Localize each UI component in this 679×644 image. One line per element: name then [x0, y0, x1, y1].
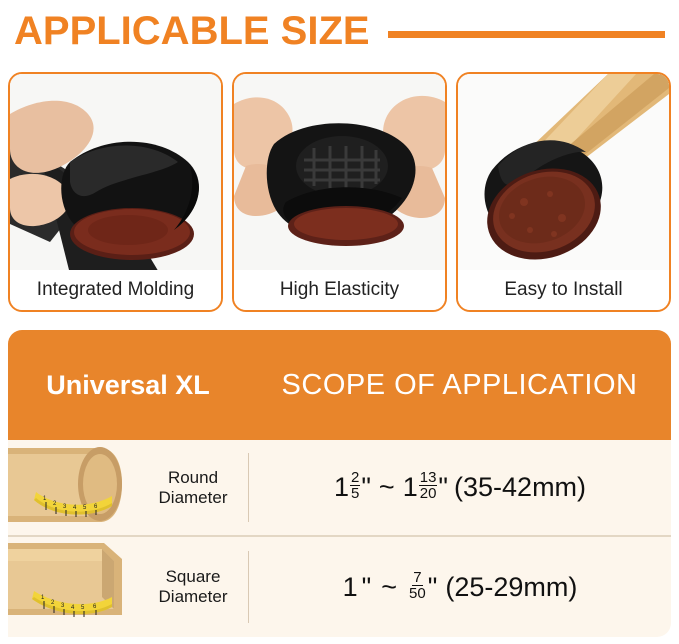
header-rule	[388, 31, 665, 38]
fraction-numerator: 7	[412, 570, 422, 586]
value-fraction-1: 2 5	[350, 470, 360, 501]
value-fraction-2: 7 50	[408, 570, 427, 601]
value-unit-2: "	[438, 472, 448, 503]
fraction-denominator: 20	[419, 486, 438, 501]
spec-row-label: Square Diameter	[138, 567, 248, 606]
value-prefix: 1	[334, 472, 349, 503]
feature-card: High Elasticity	[232, 72, 447, 312]
feature-card-caption: High Elasticity	[234, 270, 445, 310]
value-unit-1: "	[358, 572, 372, 603]
feature-card-caption: Integrated Molding	[10, 270, 221, 310]
scope-title-label: SCOPE OF APPLICATION	[248, 369, 671, 402]
spec-table-header: Universal XL SCOPE OF APPLICATION	[8, 330, 671, 440]
fraction-numerator: 13	[419, 470, 438, 486]
value-unit-1: "	[361, 472, 371, 503]
value-mid: 1	[403, 472, 418, 503]
value-fraction-2: 13 20	[419, 470, 438, 501]
value-separator: ~	[371, 572, 407, 603]
fraction-denominator: 50	[408, 586, 427, 601]
value-separator: ~	[371, 472, 403, 503]
spec-row-round: 123 456 Round Diameter 1 2 5 " ~ 1 13 20…	[8, 440, 671, 535]
feature-card-caption: Easy to Install	[458, 270, 669, 310]
feature-card: Integrated Molding	[8, 72, 223, 312]
value-metric: (25-29mm)	[437, 572, 577, 603]
round-leg-photo: 123 456	[8, 440, 138, 535]
spec-label-line1: Square	[138, 567, 248, 587]
square-leg-photo: 123 456	[8, 537, 138, 637]
spec-row-value: 1 2 5 " ~ 1 13 20 " (35-42mm)	[249, 472, 671, 503]
size-name-label: Universal XL	[8, 370, 248, 401]
product-photo-high-elasticity	[234, 74, 445, 274]
value-prefix: 1	[343, 572, 358, 603]
spec-row-label: Round Diameter	[138, 468, 248, 507]
spec-label-line2: Diameter	[138, 488, 248, 508]
value-unit-2: "	[428, 572, 438, 603]
spec-label-line2: Diameter	[138, 587, 248, 607]
page-title: APPLICABLE SIZE	[14, 11, 370, 51]
value-metric: (35-42mm)	[448, 472, 586, 503]
page-header: APPLICABLE SIZE	[0, 0, 679, 62]
feature-card-list: Integrated Molding	[8, 72, 671, 312]
product-photo-easy-to-install	[458, 74, 669, 274]
fraction-denominator: 5	[350, 486, 360, 501]
spec-row-value: 1 " ~ 7 50 " (25-29mm)	[249, 572, 671, 603]
spec-label-line1: Round	[138, 468, 248, 488]
product-photo-integrated-molding	[10, 74, 221, 274]
feature-card: Easy to Install	[456, 72, 671, 312]
fraction-numerator: 2	[350, 470, 360, 486]
spec-row-square: 123 456 Square Diameter 1 " ~ 7 50 " (25…	[8, 537, 671, 637]
